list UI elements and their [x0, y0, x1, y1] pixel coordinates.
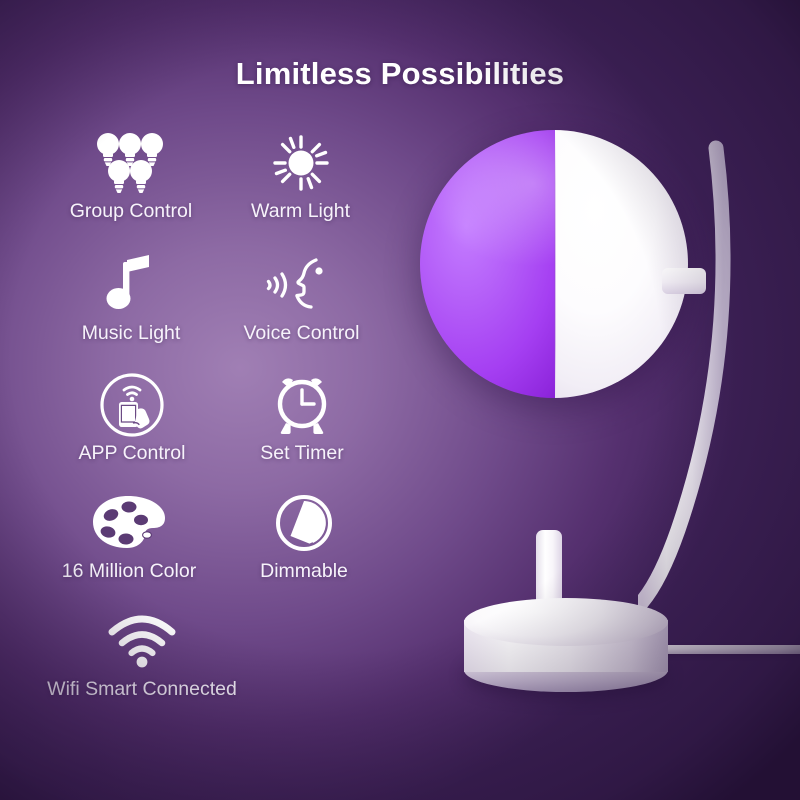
feature-item-group-control: Group Control	[36, 132, 226, 223]
product-image-smart-desk-lamp	[400, 100, 800, 740]
feature-item-app-control: APP Control	[42, 374, 222, 465]
bulbs-group-icon	[36, 132, 226, 194]
feature-item-voice-control: Voice Control	[214, 254, 389, 345]
feature-item-wifi-smart-connected: Wifi Smart Connected	[22, 610, 262, 701]
phone-hand-wifi-icon	[42, 374, 222, 436]
feature-label: Set Timer	[222, 442, 382, 465]
feature-item-warm-light: Warm Light	[218, 132, 383, 223]
lamp-base	[464, 598, 668, 690]
base-top	[464, 598, 668, 646]
feature-label: APP Control	[42, 442, 222, 465]
feature-label: Wifi Smart Connected	[22, 678, 262, 701]
brightness-dial-icon	[224, 492, 384, 554]
wifi-icon	[22, 610, 262, 672]
globe-highlight	[420, 130, 688, 398]
voice-face-icon	[214, 254, 389, 316]
feature-label: 16 Million Color	[24, 560, 234, 583]
feature-label: Voice Control	[214, 322, 389, 345]
page-title: Limitless Possibilities	[0, 56, 800, 92]
feature-label: Warm Light	[218, 200, 383, 223]
product-feature-banner: Limitless Possibilities	[0, 0, 800, 800]
feature-item-16-million-color: 16 Million Color	[24, 492, 234, 583]
feature-label: Music Light	[46, 322, 216, 345]
music-note-icon	[46, 254, 216, 316]
feature-list: Group Control	[0, 126, 400, 726]
feature-item-dimmable: Dimmable	[224, 492, 384, 583]
sun-icon	[218, 132, 383, 194]
feature-item-music-light: Music Light	[46, 254, 216, 345]
alarm-clock-icon	[222, 374, 382, 436]
lamp-globe-connector	[662, 268, 706, 294]
feature-item-set-timer: Set Timer	[222, 374, 382, 465]
feature-label: Dimmable	[224, 560, 384, 583]
lamp-globe	[420, 130, 688, 398]
paint-palette-icon	[24, 492, 234, 554]
feature-label: Group Control	[36, 200, 226, 223]
